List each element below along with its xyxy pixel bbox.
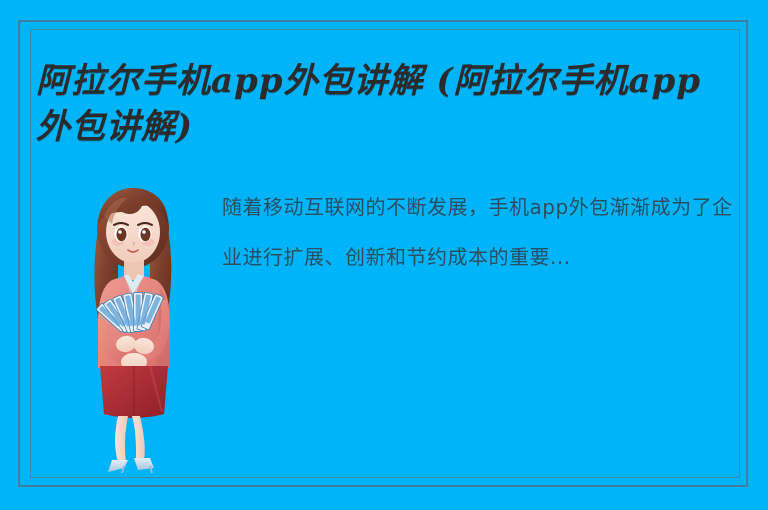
- illustration-anime-girl: [74, 176, 194, 476]
- article-card: 阿拉尔手机app外包讲解 (阿拉尔手机app外包讲解): [0, 0, 768, 510]
- page-title: 阿拉尔手机app外包讲解 (阿拉尔手机app外包讲解): [36, 58, 736, 150]
- article-excerpt: 随着移动互联网的不断发展，手机app外包渐渐成为了企业进行扩展、创新和节约成本的…: [222, 182, 740, 332]
